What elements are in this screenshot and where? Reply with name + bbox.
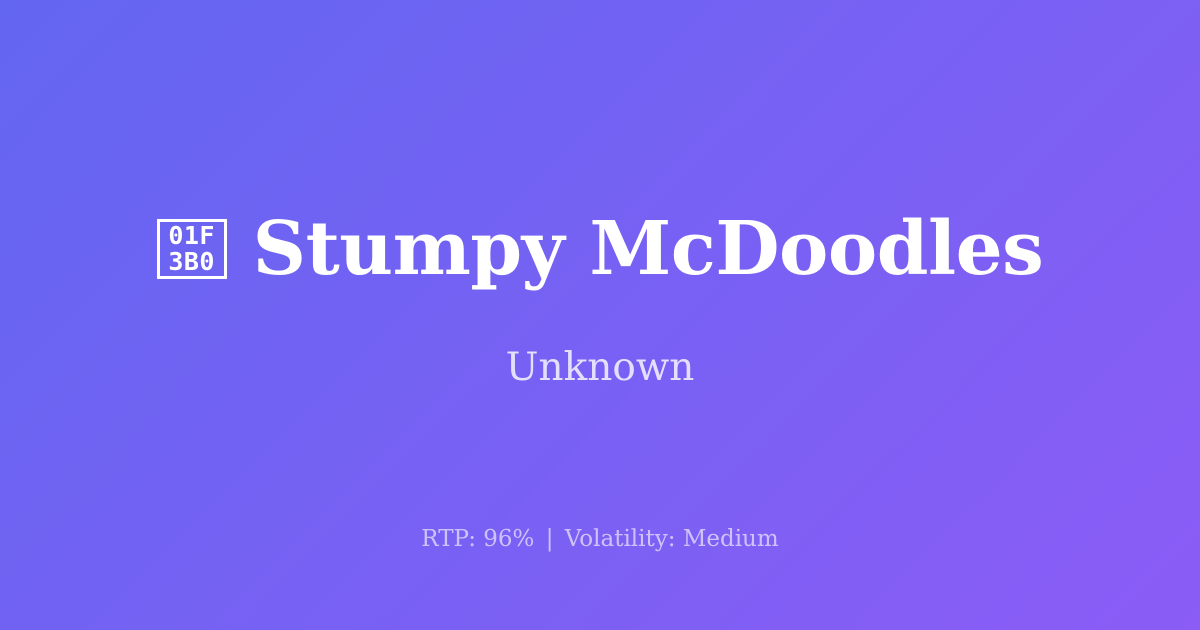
stats-separator: | bbox=[542, 526, 558, 552]
title-row: 01F 3B0 Stumpy McDoodles bbox=[157, 212, 1044, 286]
volatility-value: Medium bbox=[683, 526, 779, 552]
og-card: 01F 3B0 Stumpy McDoodles Unknown RTP: 96… bbox=[0, 0, 1200, 630]
hero-block: 01F 3B0 Stumpy McDoodles Unknown bbox=[0, 212, 1200, 387]
tofu-codepoint-row-top: 01F bbox=[168, 223, 215, 249]
game-stats-line: RTP: 96% | Volatility: Medium bbox=[0, 528, 1200, 551]
page-title: Stumpy McDoodles bbox=[253, 212, 1044, 286]
tofu-codepoint-row-bottom: 3B0 bbox=[168, 249, 215, 275]
rtp-label: RTP: bbox=[421, 526, 476, 552]
slot-machine-icon: 01F 3B0 bbox=[157, 219, 227, 279]
rtp-value: 96% bbox=[483, 526, 534, 552]
provider-subtitle: Unknown bbox=[506, 286, 695, 387]
volatility-label: Volatility: bbox=[565, 526, 676, 552]
